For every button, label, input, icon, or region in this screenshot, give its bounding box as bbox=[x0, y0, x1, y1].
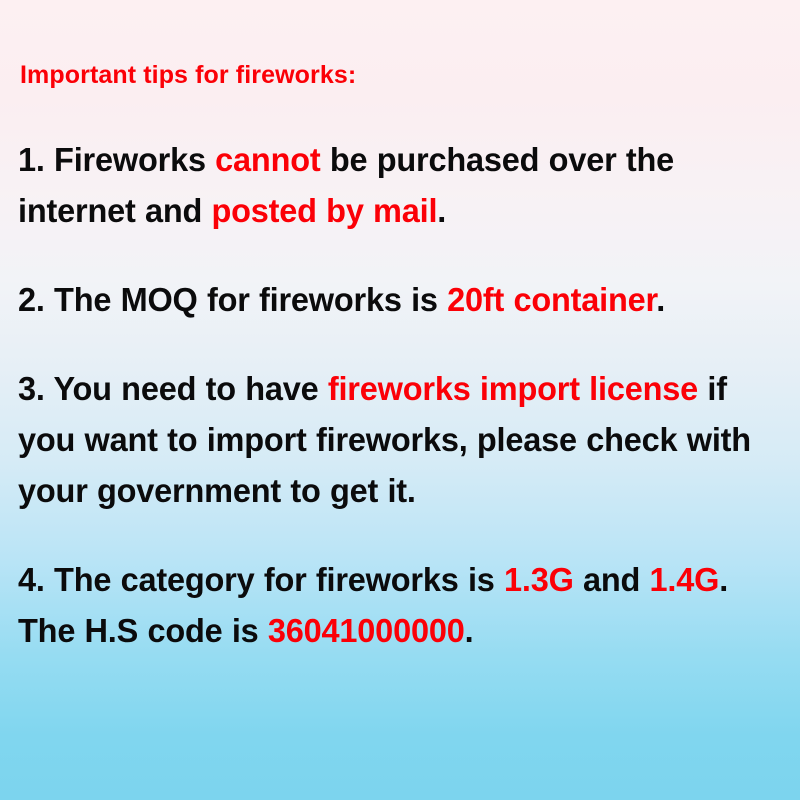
tip-1-text-1: Fireworks bbox=[45, 141, 215, 178]
tip-2-highlight-1: 20ft container bbox=[447, 281, 656, 318]
tip-4-highlight-2: 1.4G bbox=[650, 561, 720, 598]
tip-2-text-2: . bbox=[656, 281, 665, 318]
tip-item-3: 3. You need to have fireworks import lic… bbox=[18, 363, 769, 516]
tip-4-text-4: . bbox=[465, 612, 474, 649]
tip-1-highlight-1: cannot bbox=[215, 141, 320, 178]
tip-item-2: 2. The MOQ for fireworks is 20ft contain… bbox=[18, 274, 769, 325]
tips-content: Important tips for fireworks: 1. Firewor… bbox=[18, 62, 780, 656]
tip-3-highlight-1: fireworks import license bbox=[328, 370, 698, 407]
tip-4-text-2: and bbox=[574, 561, 650, 598]
tip-4-number: 4. bbox=[18, 561, 45, 598]
tip-item-1: 1. Fireworks cannot be purchased over th… bbox=[18, 134, 769, 236]
page-title: Important tips for fireworks: bbox=[20, 62, 780, 90]
tip-4-text-1: The category for fireworks is bbox=[45, 561, 504, 598]
tip-2-text-1: The MOQ for fireworks is bbox=[45, 281, 447, 318]
tip-item-4: 4. The category for fireworks is 1.3G an… bbox=[18, 554, 769, 656]
tip-4-highlight-3: 36041000000 bbox=[268, 612, 465, 649]
tip-1-number: 1. bbox=[18, 141, 45, 178]
tip-1-highlight-2: posted by mail bbox=[211, 192, 437, 229]
fireworks-tips-card: Important tips for fireworks: 1. Firewor… bbox=[0, 0, 800, 800]
tip-4-highlight-1: 1.3G bbox=[504, 561, 574, 598]
tip-2-number: 2. bbox=[18, 281, 45, 318]
tip-3-number: 3. bbox=[18, 370, 45, 407]
tip-3-text-1: You need to have bbox=[45, 370, 328, 407]
tip-1-text-3: . bbox=[437, 192, 446, 229]
